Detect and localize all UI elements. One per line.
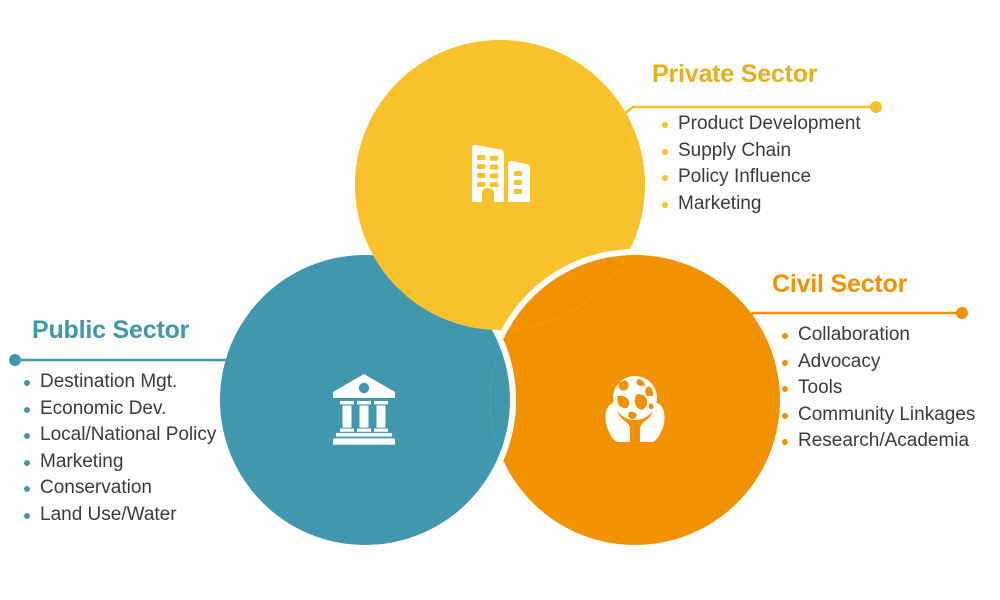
list-item: Product Development	[660, 111, 861, 138]
bullet-icon	[24, 486, 30, 492]
list-item: Destination Mgt.	[22, 369, 216, 396]
list-item-label: Collaboration	[798, 324, 910, 345]
civil-sector-list: Collaboration Advocacy Tools Community L…	[780, 322, 975, 455]
bullet-icon	[662, 175, 668, 181]
bullet-icon	[782, 333, 788, 339]
bullet-icon	[24, 433, 30, 439]
list-item-label: Advocacy	[798, 351, 880, 372]
list-item: Advocacy	[780, 349, 975, 376]
list-item-label: Local/National Policy	[40, 424, 216, 445]
bullet-icon	[24, 407, 30, 413]
bullet-icon	[662, 149, 668, 155]
list-item-label: Policy Influence	[678, 166, 811, 187]
list-item: Tools	[780, 375, 975, 402]
list-item: Research/Academia	[780, 428, 975, 455]
list-item-label: Land Use/Water	[40, 504, 177, 525]
list-item-label: Community Linkages	[798, 404, 975, 425]
list-item-label: Economic Dev.	[40, 398, 166, 419]
callout-private-sector: Private Sector Product Development Suppl…	[652, 62, 861, 217]
list-item: Supply Chain	[660, 138, 861, 165]
public-sector-title: Public Sector	[32, 318, 216, 343]
list-item-label: Research/Academia	[798, 430, 969, 451]
list-item-label: Marketing	[40, 451, 123, 472]
list-item: Local/National Policy	[22, 422, 216, 449]
list-item-label: Conservation	[40, 477, 152, 498]
list-item-label: Marketing	[678, 193, 761, 214]
civil-sector-title: Civil Sector	[772, 272, 975, 297]
list-item-label: Tools	[798, 377, 842, 398]
list-item-label: Supply Chain	[678, 140, 791, 161]
list-item: Conservation	[22, 475, 216, 502]
bullet-icon	[662, 122, 668, 128]
list-item: Marketing	[22, 449, 216, 476]
bullet-icon	[782, 360, 788, 366]
callout-public-sector: Public Sector Destination Mgt. Economic …	[14, 318, 216, 528]
diagram-stage: Private Sector Product Development Suppl…	[0, 0, 1000, 600]
list-item: Policy Influence	[660, 164, 861, 191]
bullet-icon	[24, 460, 30, 466]
list-item: Land Use/Water	[22, 502, 216, 529]
private-sector-list: Product Development Supply Chain Policy …	[660, 111, 861, 217]
bullet-icon	[782, 386, 788, 392]
list-item: Marketing	[660, 191, 861, 218]
bullet-icon	[662, 202, 668, 208]
public-sector-list: Destination Mgt. Economic Dev. Local/Nat…	[22, 369, 216, 528]
list-item: Collaboration	[780, 322, 975, 349]
private-sector-title: Private Sector	[652, 62, 861, 87]
bullet-icon	[782, 413, 788, 419]
bullet-icon	[782, 439, 788, 445]
callout-civil-sector: Civil Sector Collaboration Advocacy Tool…	[772, 272, 975, 455]
list-item: Economic Dev.	[22, 396, 216, 423]
bullet-icon	[24, 380, 30, 386]
list-item: Community Linkages	[780, 402, 975, 429]
list-item-label: Destination Mgt.	[40, 371, 177, 392]
list-item-label: Product Development	[678, 113, 861, 134]
bullet-icon	[24, 513, 30, 519]
